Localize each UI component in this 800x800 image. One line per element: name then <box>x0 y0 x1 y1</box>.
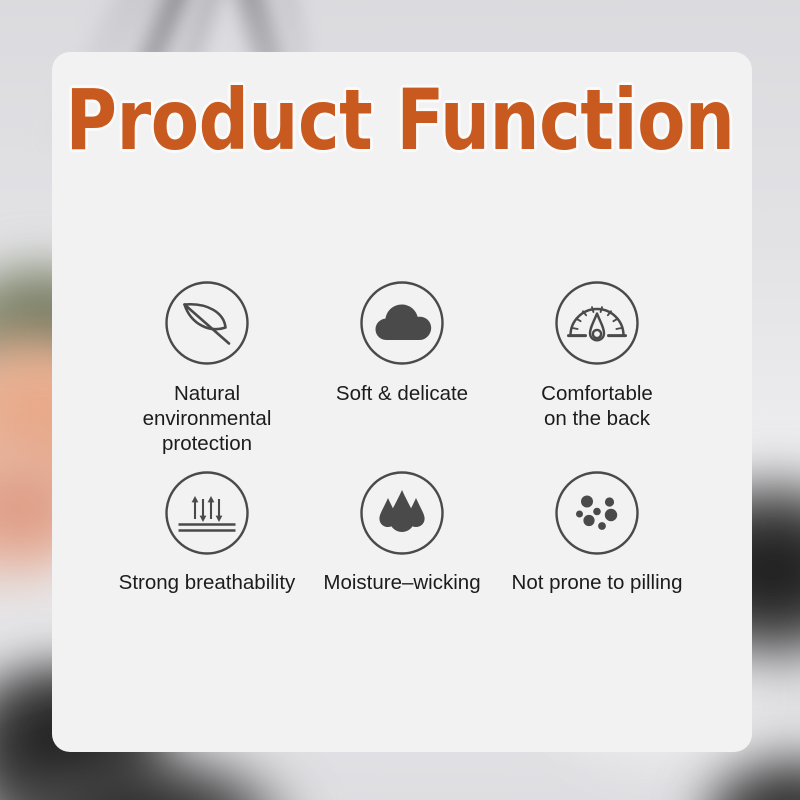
feature-item-soft-and-delicate[interactable]: Soft & delicate <box>305 280 500 406</box>
feature-label: Comfortable on the back <box>541 381 653 431</box>
feature-grid: Natural environmental protection Soft & … <box>52 280 752 595</box>
pilling-dots-icon <box>554 470 640 556</box>
cloud-icon <box>359 280 445 366</box>
water-drops-icon <box>359 470 445 556</box>
feature-label: Moisture–wicking <box>323 570 480 595</box>
feature-row: Natural environmental protection Soft & … <box>52 280 752 456</box>
feature-label: Natural environmental protection <box>110 381 305 456</box>
leaf-icon <box>164 280 250 366</box>
feature-row: Strong breathability Moisture–wicking <box>52 470 752 595</box>
feature-item-moisture-wicking[interactable]: Moisture–wicking <box>305 470 500 595</box>
infographic-stage: Product Function Natural environmental p… <box>0 0 800 800</box>
feature-item-comfortable-on-the-back[interactable]: Comfortable on the back <box>500 280 695 431</box>
feature-item-natural-environmental-protection[interactable]: Natural environmental protection <box>110 280 305 456</box>
feature-label: Soft & delicate <box>336 381 468 406</box>
feature-item-not-prone-to-pilling[interactable]: Not prone to pilling <box>500 470 695 595</box>
feature-item-strong-breathability[interactable]: Strong breathability <box>110 470 305 595</box>
breathability-icon <box>164 470 250 556</box>
feature-label: Strong breathability <box>119 570 296 595</box>
page-title: Product Function <box>28 78 772 162</box>
gauge-icon <box>554 280 640 366</box>
feature-label: Not prone to pilling <box>512 570 683 595</box>
